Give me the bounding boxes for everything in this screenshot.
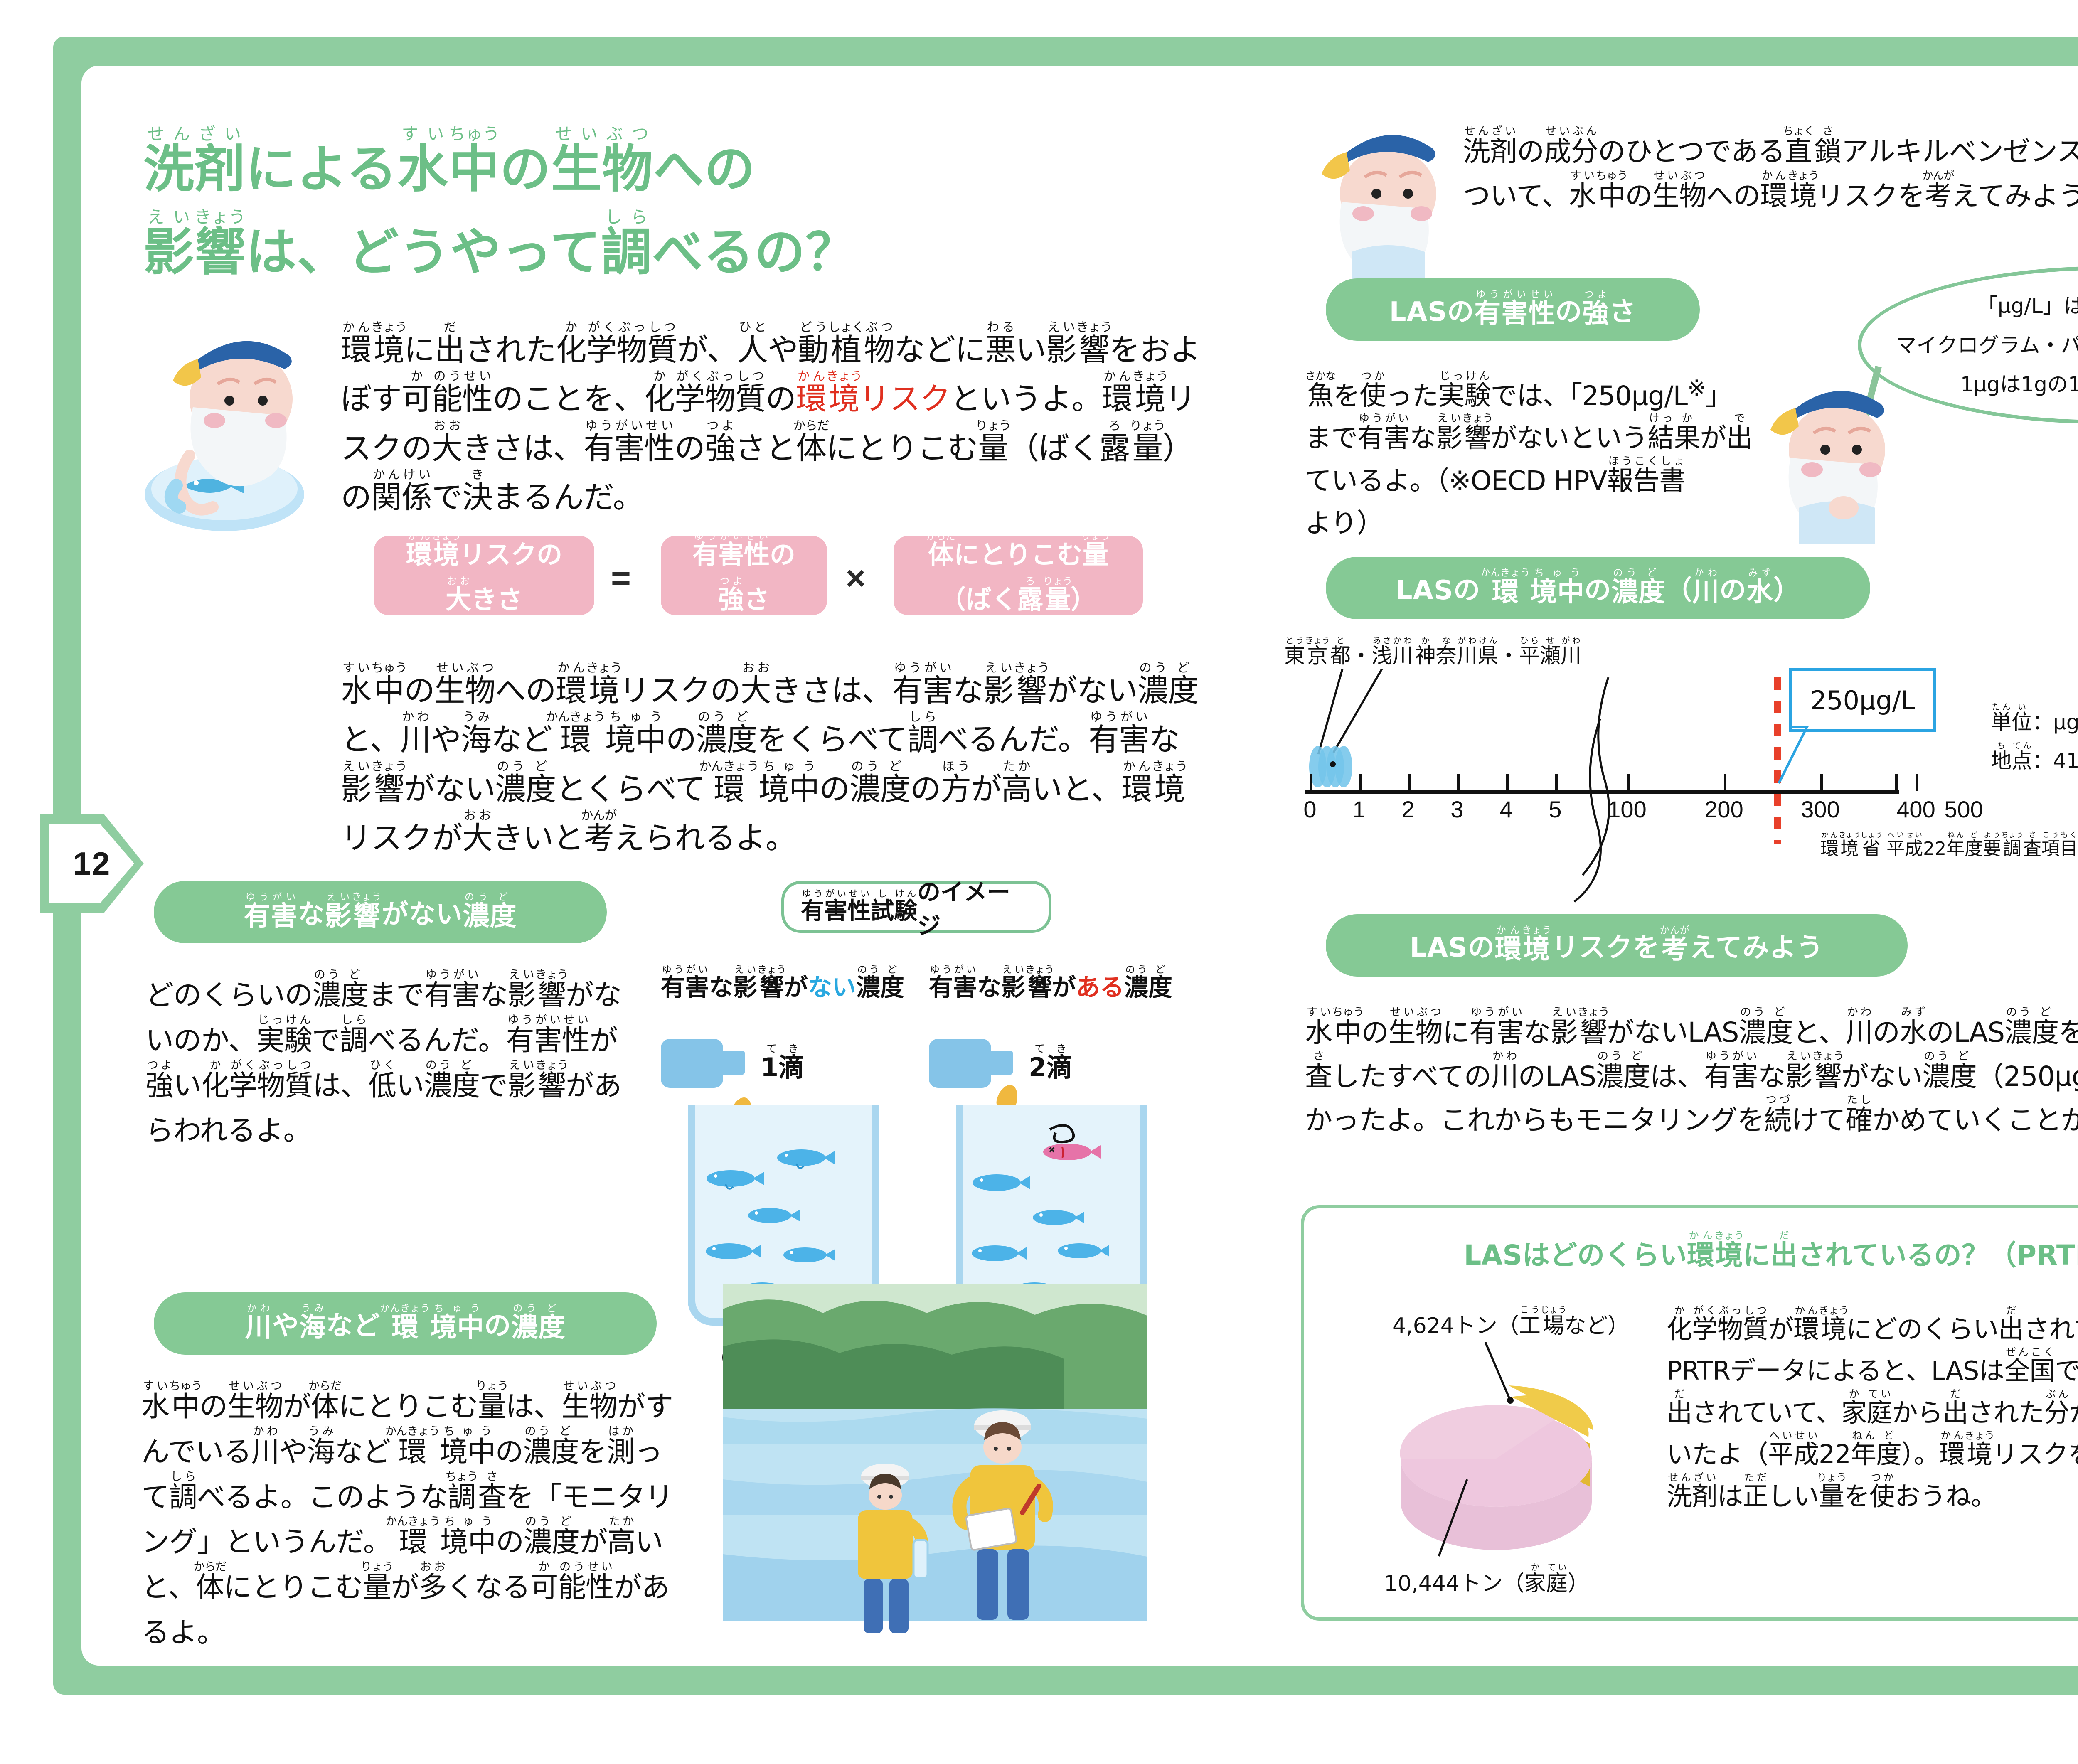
dropper-bottle-right [929, 1039, 991, 1088]
pie-leader-line-factory [1480, 1342, 1554, 1417]
intro-paragraph: 環かん境きょうに出だされた化か学がく物ぶっ質しつが、人ひとや動どう植しょく物ぶつ… [341, 320, 1205, 522]
dropper-bottle-left [661, 1039, 723, 1088]
chart-unit-note: 単たん位い：μg/L 地ち点てん：41地ち点てん [1991, 702, 2078, 779]
risk-paragraph: 水すい中ちゅうの生せい物ぶつへの環かん境きょうリスクの大おおきさは、有ゆう害がい… [341, 661, 1205, 863]
section-heading-las-concentration: LASの環かんきょう境中ちゅうの濃のう度ど（川かわの水みず） [1326, 557, 1870, 619]
drop-count-left: 1滴てき [761, 1043, 804, 1084]
axis-tick-5 [1555, 774, 1558, 791]
professor-with-fishbowl-illustration [125, 308, 357, 540]
formula-box-exposure: 体からだにとりこむ量りょう （ばく露ろ量りょう） [894, 536, 1143, 615]
chart-annotation-asakawa: 東とう京きょう都と・浅あさ川かわ [1284, 636, 1413, 669]
section-heading-las-toxicity: LASの有ゆう害がい性せいの強つよさ [1326, 278, 1700, 341]
axis-tick-2 [1408, 774, 1411, 791]
threshold-callout: 250μg/L [1789, 668, 1936, 732]
axis-label-300: 300 [1795, 796, 1845, 823]
right-intro-paragraph: 洗せん剤ざいの成せい分ぶんのひとつである直ちょく鎖さアルキルベンゼンスルホン酸さ… [1463, 125, 2078, 219]
axis-break-symbol [1563, 677, 1637, 877]
times-sign: × [846, 559, 866, 598]
data-point-cluster-4 [1335, 746, 1352, 787]
formula-box-risk: 環かん境きょうリスクの 大おおきさ [374, 536, 594, 615]
axis-tick-500 [1895, 774, 1898, 791]
axis-label-400: 400 [1891, 796, 1941, 823]
axis-tick-300 [1820, 774, 1823, 791]
section2-body: 水すい中ちゅうの生せい物ぶつが体からだにとりこむ量りょうは、生せい物ぶつがすんで… [141, 1380, 673, 1656]
axis-tick-400 [1916, 774, 1918, 791]
data-point-marker-hirasegawa [1330, 761, 1336, 767]
axis-tick-200 [1724, 774, 1726, 791]
equals-sign: = [611, 559, 631, 598]
document-page: 12 13 洗せん剤ざいによる水すい中ちゅうの生せい物ぶつへの 影えい響きょうは… [0, 0, 2078, 1764]
page-number-left: 12 [49, 824, 134, 903]
axis-tick-4 [1506, 774, 1509, 791]
pie-label-factory: 4,624トン（工こう場じょうなど） [1392, 1305, 1629, 1339]
formula-box-hazard: 有ゆう害がい性せいの 強つよさ [661, 536, 827, 615]
axis-label-500: 500 [1937, 796, 1991, 823]
axis-label-1: 1 [1347, 796, 1371, 823]
experiment-left-title: 有ゆう害がいな影えい響きょうがない濃のう度ど [661, 964, 904, 1003]
prtr-panel-body: 化か学がく物ぶっ質しつが環かん境きょうにどのくらい出だされているかを集しゅう計け… [1667, 1305, 2078, 1517]
axis-tick-1 [1359, 774, 1362, 791]
prtr-panel-title: LASはどのくらい環かん境きょうに出だされているの？（PRTRデータ） [1367, 1230, 2078, 1273]
experiment-right-title: 有ゆう害がいな影えい響きょうがある濃のう度ど [929, 964, 1172, 1003]
drop-count-right: 2滴てき [1029, 1043, 1072, 1084]
pie-label-household: 10,444トン（家か庭てい） [1384, 1562, 1589, 1597]
axis-tick-0 [1310, 774, 1312, 791]
professor-pointing-illustration [1754, 362, 1933, 544]
chart-annotation-hirasegawa: 神か奈な川がわ県けん・平ひら瀬せ川がわ [1415, 636, 1581, 669]
section-heading-environment-concentration: 川かわや海うみなど環かんきょう境中ちゅうの濃のう度ど [154, 1292, 657, 1355]
axis-label-200: 200 [1699, 796, 1749, 823]
section-heading-think-las-risk: LASの環かん境きょうリスクを考かんがえてみよう [1326, 914, 1908, 977]
axis-label-3: 3 [1445, 796, 1470, 823]
axis-label-2: 2 [1396, 796, 1421, 823]
las-toxicity-body: 魚さかなを使つかった実じっ験けんでは、「250μg/L※」まで有ゆう害がいな影え… [1305, 370, 1754, 545]
chart-source-note: 環かん境きょう省しょう 平へい成せい22年ねん度ど要よう調ちょう査さ項こう目もく… [1820, 831, 2078, 860]
section1-body: どのくらいの濃のう度どまで有ゆう害がいな影えい響きょうがないのか、実じっ験けんで… [145, 968, 640, 1154]
section-heading-no-harmful-effect: 有ゆう害がいな影えい響きょうがない濃のう度ど [154, 881, 607, 943]
page-title: 洗せん剤ざいによる水すい中ちゅうの生せい物ぶつへの 影えい響きょうは、どうやって… [143, 125, 1016, 291]
professor-head-illustration-top [1305, 104, 1471, 283]
axis-label-4: 4 [1494, 796, 1519, 823]
threshold-callout-pointer [1771, 725, 1817, 787]
axis-tick-3 [1457, 774, 1460, 791]
experiment-image-label: 有ゆう害がい性せい試し験けんのイメージ [781, 881, 1051, 933]
river-monitoring-illustration [723, 1284, 1147, 1621]
risk-section-body: 水すい中ちゅうの生せい物ぶつに有ゆう害がいな影えい響きょうがないLAS濃のう度ど… [1305, 1006, 2078, 1142]
axis-label-0: 0 [1298, 796, 1322, 823]
